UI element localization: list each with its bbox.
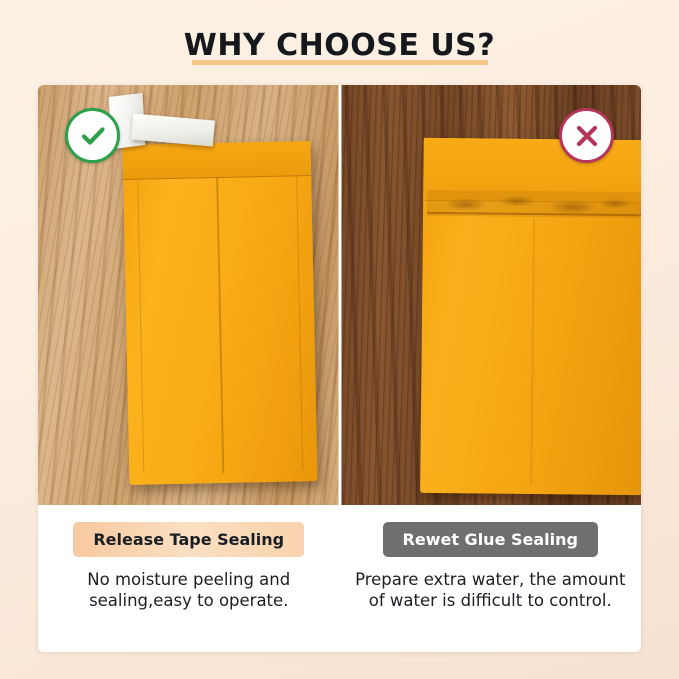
rewet-glue-envelope [420, 138, 641, 495]
release-tape-envelope [122, 141, 317, 485]
left-photo [38, 85, 340, 505]
rewet-glue-pill: Rewet Glue Sealing [383, 522, 598, 557]
photo-divider [338, 85, 341, 505]
right-label-column: Rewet Glue Sealing Prepare extra water, … [340, 505, 642, 652]
rewet-glue-caption: Prepare extra water, the amount of water… [354, 569, 628, 612]
release-tape-caption: No moisture peeling and sealing,easy to … [52, 569, 326, 612]
product-comparison-infographic: WHY CHOOSE US? [0, 0, 679, 679]
comparison-card: Release Tape Sealing No moisture peeling… [38, 85, 641, 652]
photo-row [38, 85, 641, 505]
cross-circle-icon [559, 108, 614, 163]
right-photo [340, 85, 642, 505]
left-label-column: Release Tape Sealing No moisture peeling… [38, 505, 340, 652]
envelope-right-seam [296, 175, 303, 469]
release-tape-pill: Release Tape Sealing [73, 522, 304, 557]
envelope-center-seam [216, 177, 224, 473]
labels-row: Release Tape Sealing No moisture peeling… [38, 505, 641, 652]
page-title: WHY CHOOSE US? [180, 28, 499, 67]
check-circle-icon [65, 108, 120, 163]
envelope-left-seam [137, 179, 144, 473]
page-title-container: WHY CHOOSE US? [0, 28, 679, 67]
envelope-center-seam [530, 219, 535, 484]
